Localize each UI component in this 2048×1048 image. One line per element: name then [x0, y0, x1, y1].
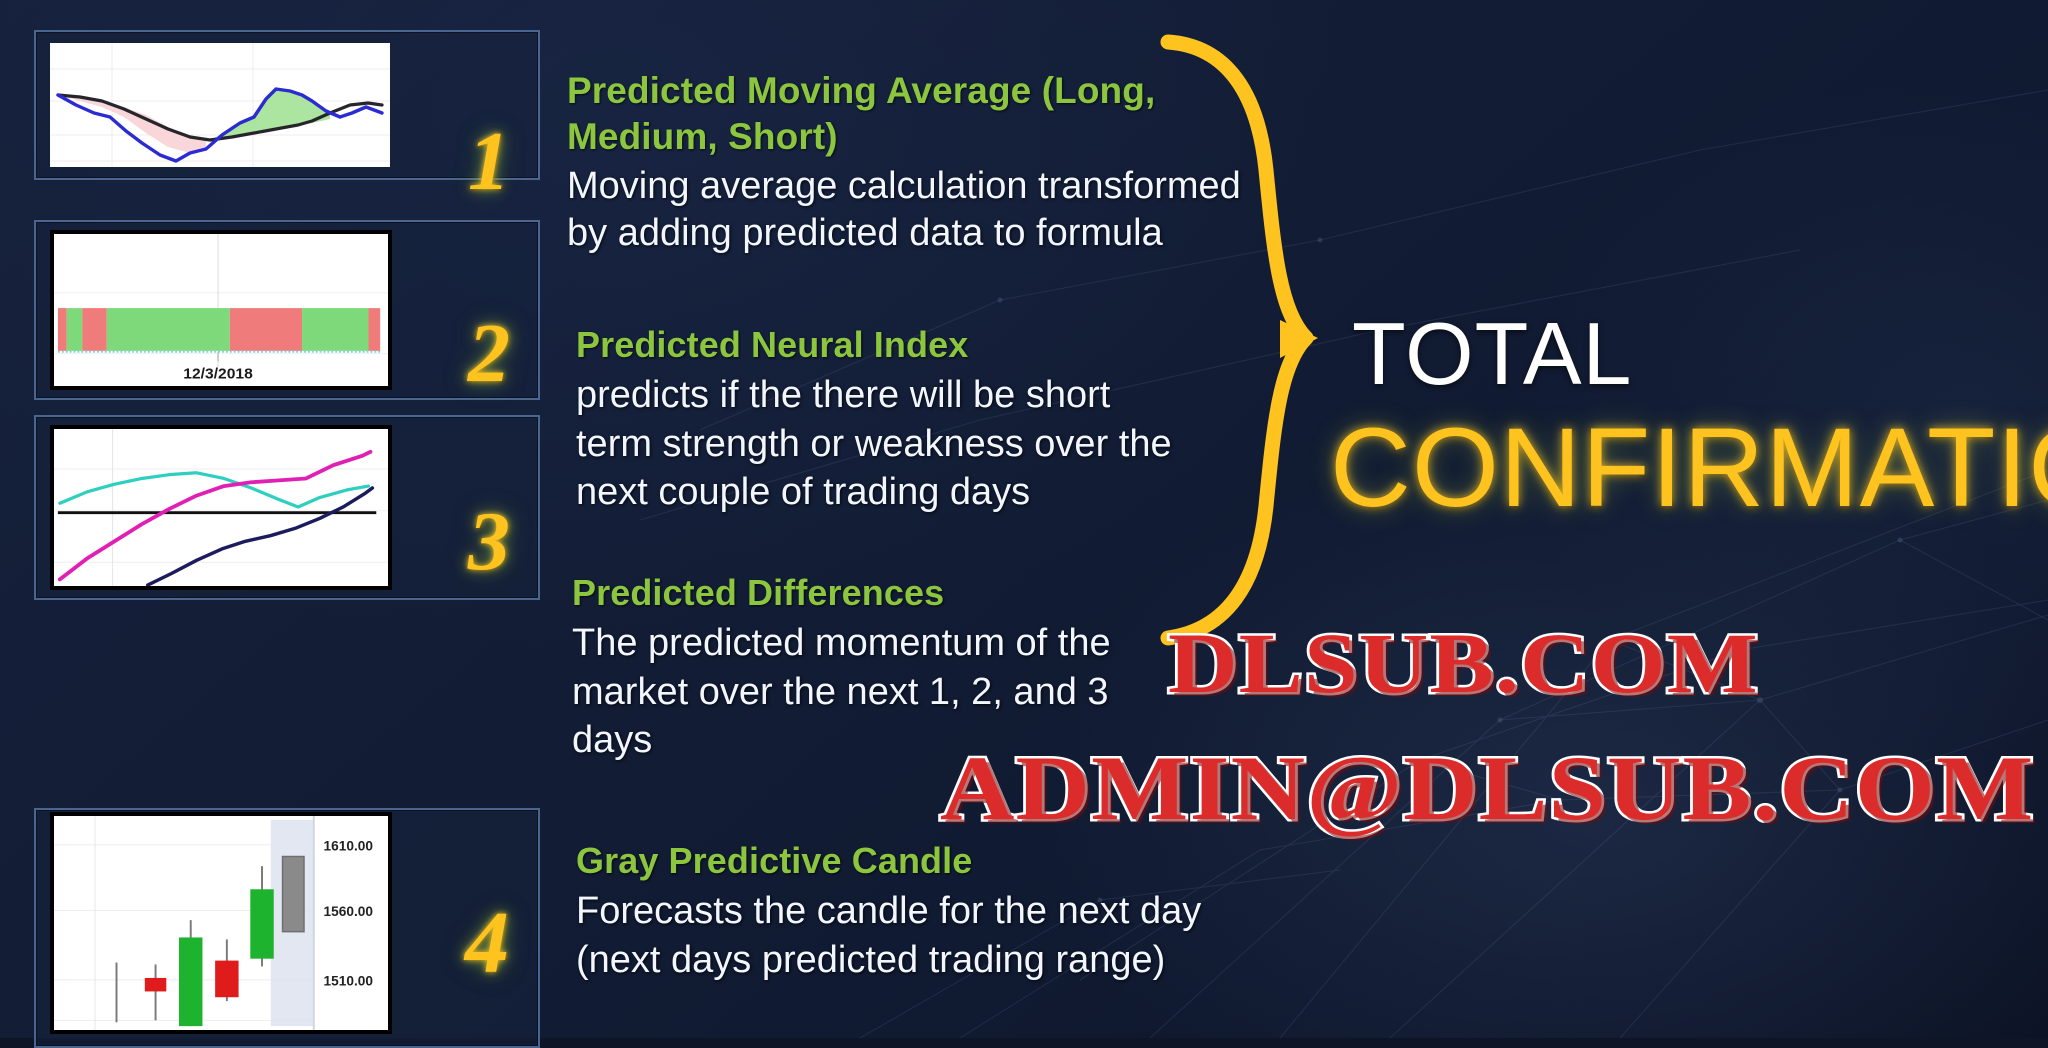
step-number-2: 2	[468, 312, 510, 396]
watermark-site: DLSUB.COM	[1168, 620, 1759, 706]
predicted-candle	[283, 856, 304, 931]
description-title-4: Gray Predictive Candle	[576, 838, 1276, 883]
body-line: (next days predicted trading range)	[576, 936, 1276, 985]
chart-predicted-differences	[50, 425, 392, 590]
description-block-4: Gray Predictive Candle Forecasts the can…	[576, 838, 1276, 984]
chart-predicted-neural-index: 12/3/2018	[50, 230, 392, 390]
step-number-1: 1	[468, 120, 510, 204]
y-tick-1560: 1560.00	[324, 904, 373, 919]
differences-svg	[54, 429, 388, 586]
neural-index-svg: 12/3/2018	[54, 234, 388, 386]
description-body-4: Forecasts the candle for the next day (n…	[576, 887, 1276, 984]
y-tick-1610: 1610.00	[324, 839, 373, 854]
candlestick-svg: 1610.00 1560.00 1510.00	[54, 816, 388, 1030]
chart-predicted-moving-average	[50, 43, 390, 167]
headline-total: TOTAL	[1352, 310, 1632, 398]
step-number-3: 3	[468, 500, 510, 584]
step-number-4: 4	[465, 900, 509, 988]
body-line: Forecasts the candle for the next day	[576, 887, 1276, 936]
y-tick-1510: 1510.00	[324, 974, 373, 989]
headline-confirmation: CONFIRMATION	[1330, 412, 2048, 524]
title-line: Gray Predictive Candle	[576, 838, 1276, 883]
chart-gray-predictive-candle: 1610.00 1560.00 1510.00	[50, 812, 392, 1034]
watermark-email: ADMIN@DLSUB.COM	[940, 742, 2034, 834]
neural-index-date-label: 12/3/2018	[183, 366, 253, 383]
moving-average-svg	[50, 43, 390, 167]
